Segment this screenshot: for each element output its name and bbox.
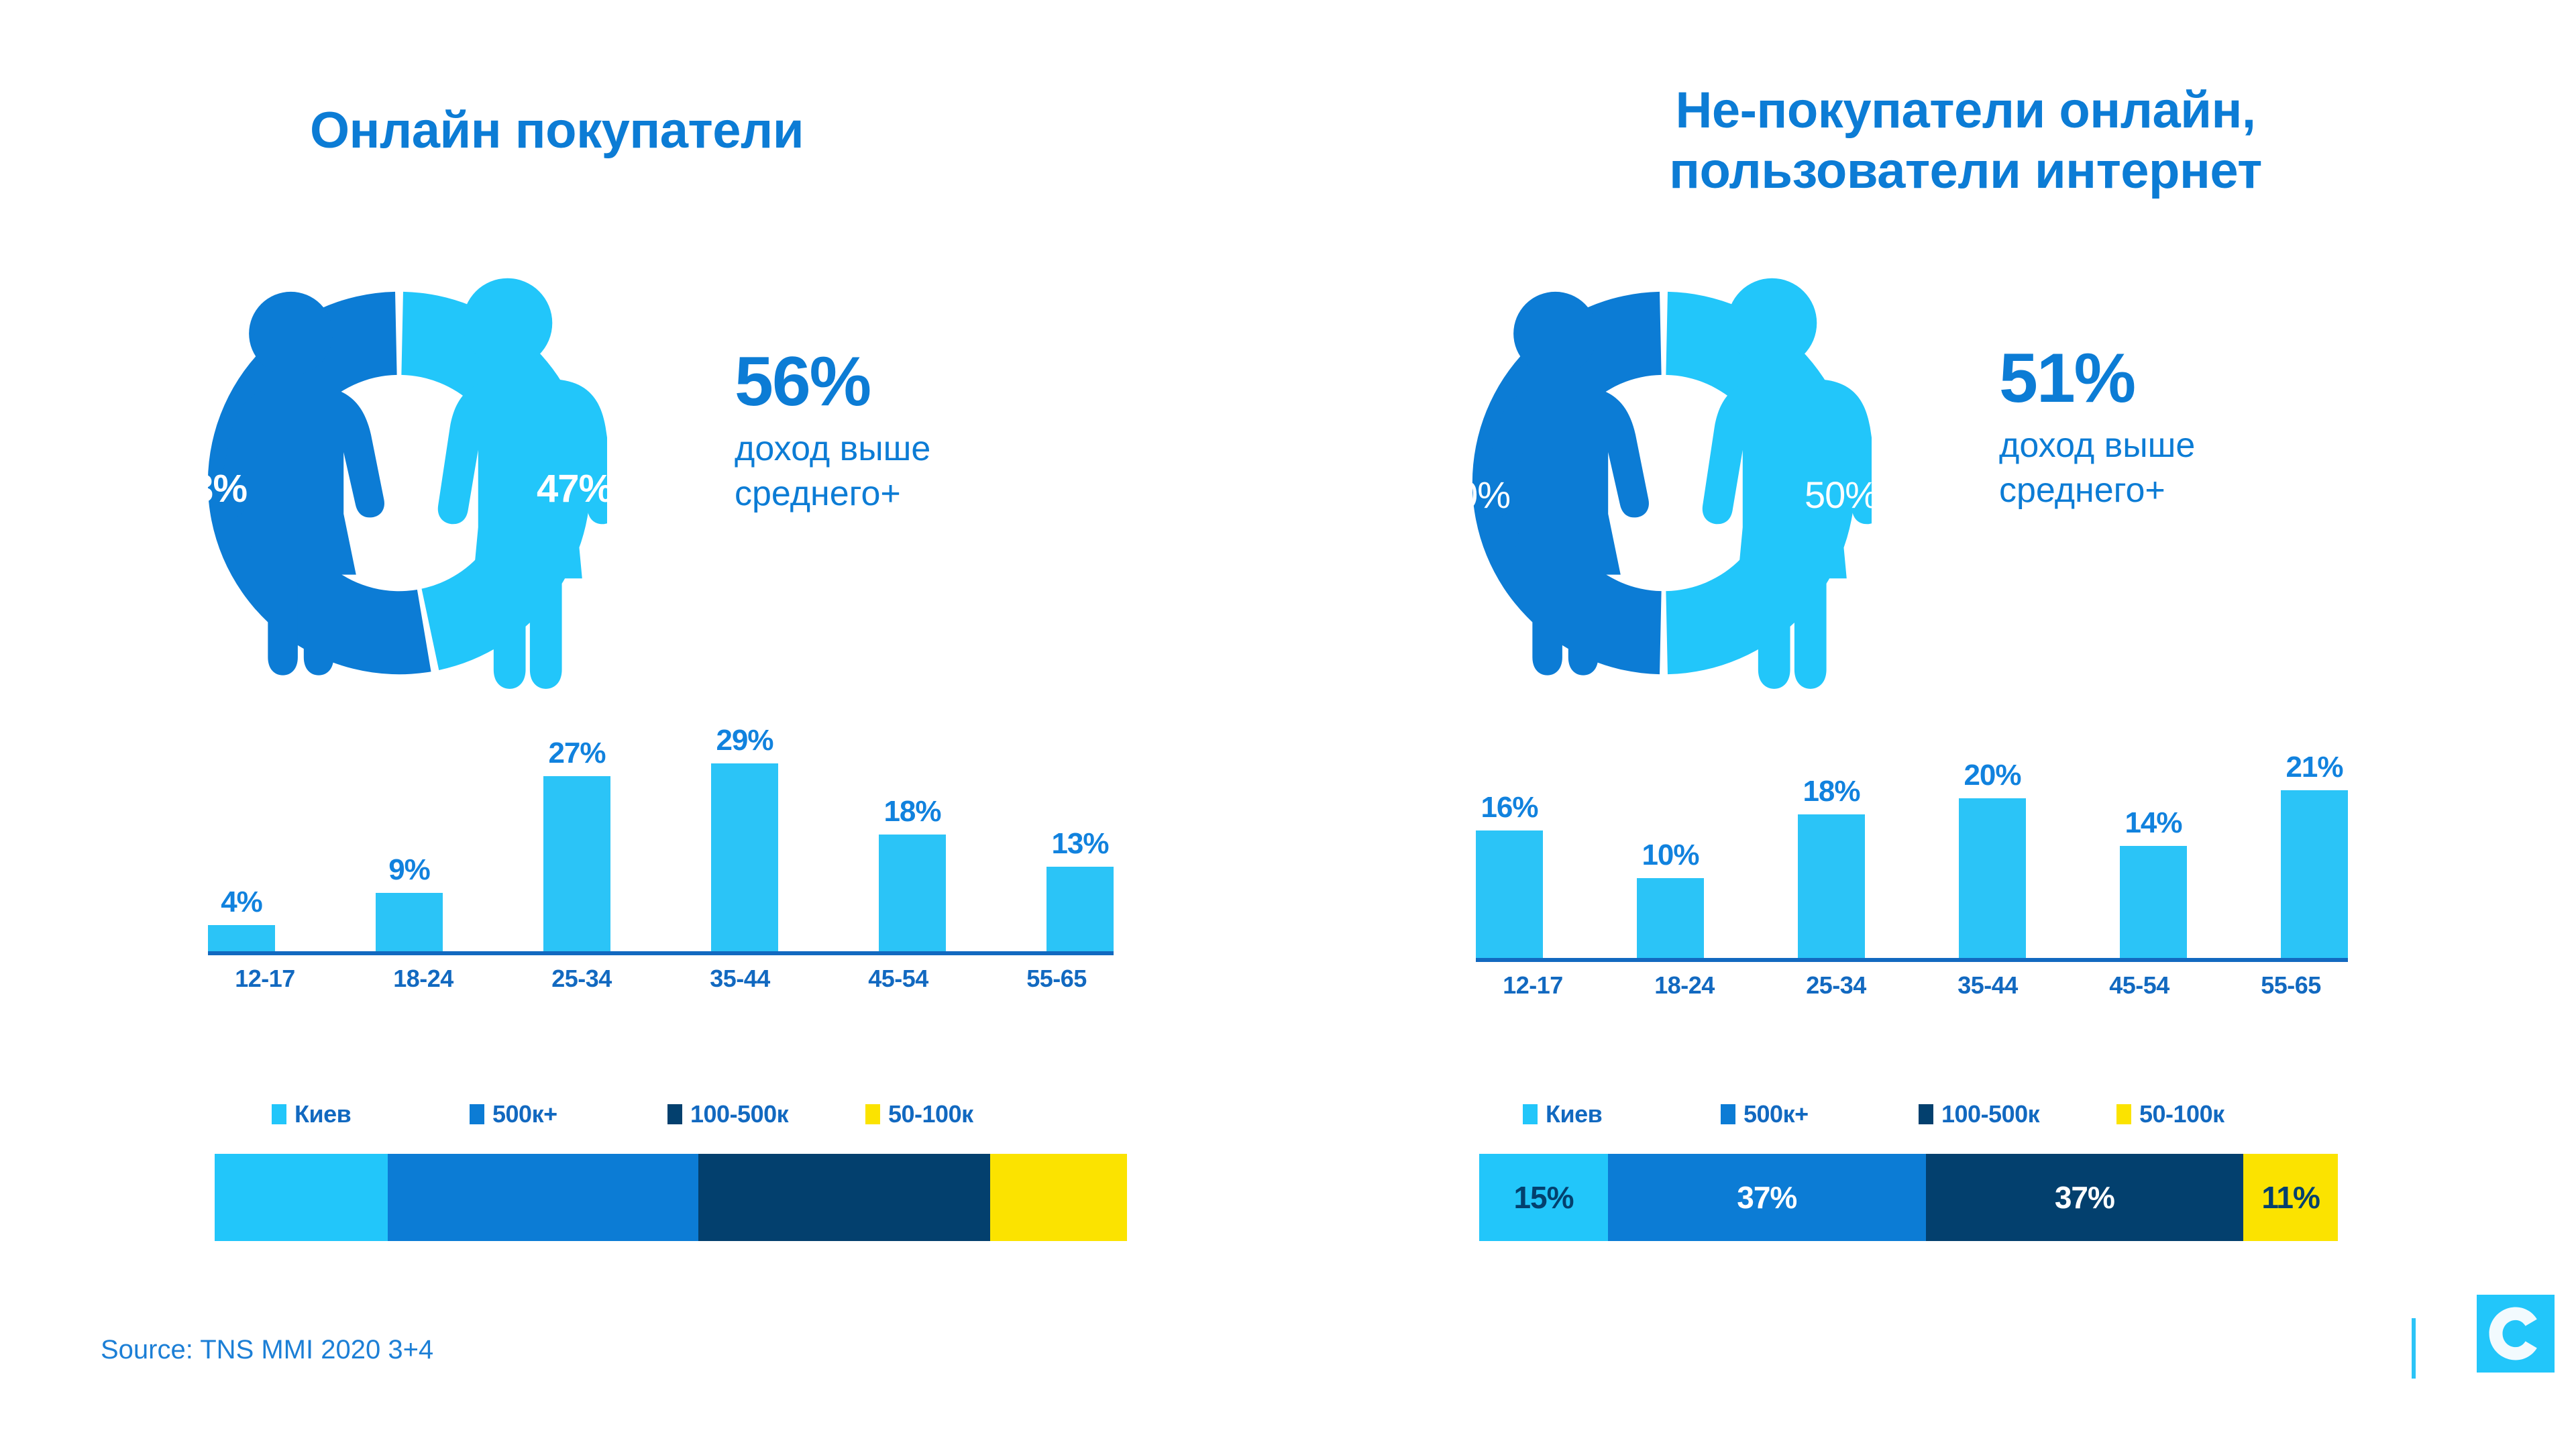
stack-value-label: 37% [1737,1179,1796,1216]
bar-value-label: 18% [883,797,941,826]
gender-donut-left: 53% 47% [191,275,607,691]
bar-column: 9% [376,711,443,951]
bar-value-label: 29% [716,726,773,755]
stack-segment: 37% [1926,1154,2244,1241]
legend-item: 100-500к [1919,1100,2116,1128]
bar-column: 29% [711,711,778,951]
panel-online-buyers: Онлайн покупатели 53% 47% 56% доход выше… [0,0,1288,1449]
bar-rect [879,835,946,951]
gender-donut-right: 50% 50% [1456,275,1872,691]
legend-item: Киев [1523,1100,1721,1128]
legend-swatch-icon [2116,1104,2131,1124]
bar-category-label: 18-24 [1627,971,1741,1000]
bar-rect [1637,878,1704,958]
legend-item: 500к+ [1721,1100,1919,1128]
bar-value-label: 10% [1642,841,1699,870]
legend-item: 100-500к [667,1100,865,1128]
donut-male-percent-right: 50% [1805,476,1878,514]
age-axis-labels-left: 12-1718-2425-3435-4445-5455-65 [208,965,1114,993]
bar-rect [2281,790,2348,958]
donut-female-percent-right: 50% [1437,476,1510,514]
legend-swatch-icon [667,1104,682,1124]
income-stat-value-left: 56% [735,345,930,419]
bar-category-label: 55-65 [2234,971,2348,1000]
age-axis-labels-right: 12-1718-2425-3435-4445-5455-65 [1476,971,2348,1000]
legend-label: 50-100к [888,1100,973,1128]
stack-segment [388,1154,698,1241]
bar-rect [543,776,610,951]
legend-swatch-icon [865,1104,880,1124]
city-legend-right: Киев500к+100-500к50-100к [1523,1100,2314,1128]
brand-logo [2477,1295,2555,1373]
stack-segment [215,1154,388,1241]
legend-label: 100-500к [1941,1100,2039,1128]
income-stat-right: 51% доход выше среднего+ [1999,342,2195,513]
bar-category-label: 12-17 [1476,971,1590,1000]
legend-item: 50-100к [2116,1100,2314,1128]
bar-value-label: 20% [1964,761,2021,790]
bar-value-label: 21% [2286,753,2343,782]
legend-swatch-icon [1721,1104,1735,1124]
stack-segment [698,1154,990,1241]
age-bar-plot-right: 16%10%18%20%14%21% [1476,738,2348,958]
income-stat-left: 56% доход выше среднего+ [735,345,930,516]
bar-value-label: 4% [221,888,262,917]
bar-column: 13% [1046,711,1114,951]
bar-column: 16% [1476,738,1543,958]
stack-segment: 11% [2243,1154,2338,1241]
city-legend-left: Киев500к+100-500к50-100к [272,1100,1063,1128]
bar-value-label: 16% [1481,793,1538,822]
bar-category-label: 25-34 [1779,971,1893,1000]
legend-item: 50-100к [865,1100,1063,1128]
bar-value-label: 14% [2125,808,2182,838]
age-bar-chart-left: 4%9%27%29%18%13% 12-1718-2425-3435-4445-… [208,711,1114,993]
bar-rect [1476,830,1543,958]
bar-category-label: 55-65 [1000,965,1114,993]
brand-c-icon [2477,1295,2555,1373]
bar-category-label: 35-44 [683,965,797,993]
bar-category-label: 35-44 [1931,971,2045,1000]
bar-rect [711,763,778,951]
bar-column: 14% [2120,738,2187,958]
bar-rect [376,893,443,951]
bar-category-label: 18-24 [366,965,480,993]
legend-label: Киев [294,1100,351,1128]
legend-swatch-icon [470,1104,484,1124]
bar-category-label: 25-34 [525,965,639,993]
bar-column: 27% [543,711,610,951]
legend-swatch-icon [1523,1104,1538,1124]
bar-column: 18% [879,711,946,951]
stack-segment: 15% [1479,1154,1608,1241]
city-stacked-bar-right: 15%37%37%11% [1479,1154,2338,1241]
legend-item: 500к+ [470,1100,667,1128]
age-bar-chart-right: 16%10%18%20%14%21% 12-1718-2425-3435-444… [1476,738,2348,1000]
bar-rect [208,925,275,951]
bar-rect [2120,846,2187,958]
age-axis-line-left [208,951,1114,955]
bar-value-label: 9% [388,855,430,885]
bar-column: 18% [1798,738,1865,958]
legend-label: 50-100к [2139,1100,2224,1128]
bar-rect [1798,814,1865,958]
donut-female-percent-left: 53% [171,470,247,508]
footer-divider [2412,1318,2416,1379]
income-stat-value-right: 51% [1999,342,2195,415]
donut-male-percent-left: 47% [537,470,612,508]
legend-item: Киев [272,1100,470,1128]
age-bar-plot-left: 4%9%27%29%18%13% [208,711,1114,951]
city-stacked-bar-left [215,1154,1127,1241]
bar-column: 20% [1959,738,2026,958]
income-stat-caption-right: доход выше среднего+ [1999,423,2195,513]
bar-column: 21% [2281,738,2348,958]
legend-label: 500к+ [492,1100,557,1128]
income-stat-caption-left: доход выше среднего+ [735,427,930,516]
legend-label: 100-500к [690,1100,788,1128]
bar-value-label: 13% [1051,829,1108,859]
legend-swatch-icon [1919,1104,1933,1124]
bar-column: 4% [208,711,275,951]
bar-value-label: 27% [548,739,605,768]
age-axis-line-right [1476,958,2348,962]
bar-column: 10% [1637,738,1704,958]
bar-value-label: 18% [1803,777,1860,806]
bar-category-label: 45-54 [2082,971,2196,1000]
legend-label: 500к+ [1743,1100,1809,1128]
bar-category-label: 45-54 [841,965,955,993]
stack-segment: 37% [1608,1154,1926,1241]
source-note: Source: TNS MMI 2020 3+4 [101,1335,433,1365]
stack-value-label: 37% [2055,1179,2114,1216]
stack-segment [990,1154,1127,1241]
page-title-right: Не-покупатели онлайн, пользователи интер… [1409,80,2522,201]
bar-category-label: 12-17 [208,965,322,993]
legend-swatch-icon [272,1104,286,1124]
legend-label: Киев [1546,1100,1602,1128]
stack-value-label: 11% [2261,1179,2320,1216]
page-title-left: Онлайн покупатели [0,101,1114,161]
bar-rect [1046,867,1114,951]
bar-rect [1959,798,2026,958]
stack-value-label: 15% [1513,1179,1573,1216]
